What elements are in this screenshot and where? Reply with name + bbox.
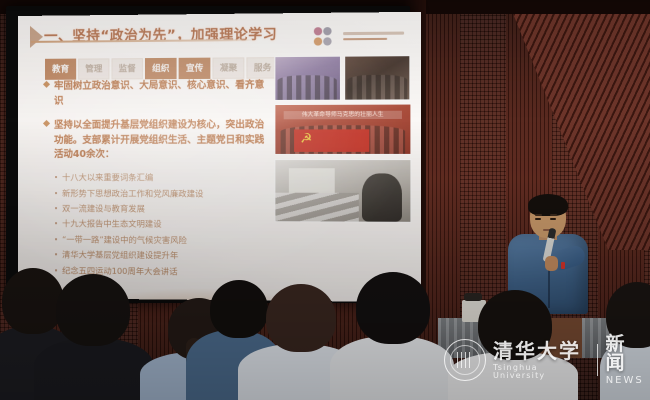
sub-bullet-text: “一带一路”建设中的气候灾害风险: [62, 234, 187, 247]
dot-bullet-icon: [55, 192, 57, 194]
watermark-university: 清华大学 Tsinghua University: [493, 341, 590, 380]
sub-bullet-item: 双一流建设与教育发展: [55, 203, 268, 216]
speaker-eyebrow-left: [535, 214, 542, 216]
photo-party-flag: 伟大革命导师马克思的壮丽人生: [274, 103, 411, 154]
sub-bullet-text: 双一流建设与教育发展: [62, 203, 145, 215]
sub-bullet-item: 十八大以来重要词条汇编: [55, 172, 268, 184]
sub-bullet-text: 十九大报告中生态文明建设: [62, 219, 161, 231]
organization-logo: [314, 22, 404, 49]
dot-bullet-icon: [55, 223, 57, 225]
sub-bullet-item: 新形势下思想政治工作和党风廉政建设: [55, 188, 268, 201]
slide-photo-grid: 伟大革命导师马克思的壮丽人生: [274, 55, 410, 223]
bullet-text: 坚持以全面提升基层党组织建设为核心，突出政治功能。支部累计开展党组织生活、主题党…: [54, 118, 268, 163]
dot-bullet-icon: [55, 176, 57, 178]
slide-tab-row: 教育 管理 监督 组织 宣传 凝聚 服务: [45, 57, 279, 80]
photo-classroom-screen: [289, 169, 335, 194]
photo-meeting-room: [344, 55, 411, 101]
audience-person: [34, 290, 154, 400]
watermark: 清华大学 Tsinghua University 新闻 NEWS: [444, 334, 644, 386]
bullet-item: 牢固树立政治意识、大局意识、核心意识、看齐意识: [44, 79, 268, 110]
projection-screen-frame: 一、坚持“政治为先”，加强理论学习: [6, 6, 410, 303]
watermark-section-en: NEWS: [606, 376, 644, 386]
audience-person: [330, 280, 454, 400]
watermark-section-cn: 新闻: [605, 335, 644, 373]
slide-tab-guanli: 管理: [78, 58, 109, 79]
photo-row: [274, 55, 410, 101]
tsinghua-seal-icon: [444, 339, 486, 381]
slide-tab-jiaoyu: 教育: [45, 59, 76, 80]
title-chevron-icon: [30, 26, 43, 48]
photo-foreground-person: [362, 174, 403, 222]
photo-banner-text: 伟大革命导师马克思的壮丽人生: [283, 111, 402, 120]
sub-bullet-item: 十九大报告中生态文明建设: [55, 219, 268, 232]
logo-wordmark: [343, 32, 404, 41]
presentation-slide: 一、坚持“政治为先”，加强理论学习: [18, 12, 421, 302]
photo-classroom-desks: [275, 193, 358, 222]
watermark-section: 新闻 NEWS: [605, 335, 644, 386]
photo-lecture-classroom: [274, 159, 411, 223]
photograph-scene: 一、坚持“政治为先”，加强理论学习: [0, 0, 650, 400]
sub-bullet-text: 清华大学基层党组织建设提升年: [62, 250, 178, 263]
diamond-bullet-icon: [43, 81, 50, 88]
slide-tab-ningju: 凝聚: [213, 57, 245, 79]
speaker-eyebrow-right: [550, 214, 557, 216]
sub-bullet-item: “一带一路”建设中的气候灾害风险: [55, 234, 268, 247]
projection-screen: 一、坚持“政治为先”，加强理论学习: [18, 12, 421, 302]
diamond-bullet-icon: [43, 120, 50, 127]
slide-bullet-list: 牢固树立政治意识、大局意识、核心意识、看齐意识 坚持以全面提升基层党组织建设为核…: [44, 79, 268, 298]
photo-group-portrait: [274, 56, 340, 101]
speaker-hair: [528, 194, 568, 216]
party-flag-icon: [294, 129, 369, 152]
dot-bullet-icon: [55, 238, 57, 240]
dot-bullet-icon: [55, 254, 57, 256]
watermark-university-cn: 清华大学: [493, 341, 590, 361]
dot-bullet-icon: [55, 207, 57, 209]
speaker-hand: [545, 256, 558, 271]
watermark-university-en: Tsinghua University: [493, 364, 590, 380]
logo-rings-icon: [314, 25, 339, 48]
slide-tab-xuanchuan: 宣传: [179, 58, 211, 79]
bullet-text: 牢固树立政治意识、大局意识、核心意识、看齐意识: [54, 79, 268, 110]
photo-people-silhouettes: [278, 75, 337, 100]
sub-bullet-text: 新形势下思想政治工作和党风廉政建设: [62, 188, 203, 200]
slide-tab-jiandu: 监督: [112, 58, 143, 79]
slide-tab-zuzhi: 组织: [145, 58, 177, 79]
sub-bullet-text: 十八大以来重要词条汇编: [62, 172, 153, 184]
speaker-badge: [561, 262, 565, 269]
watermark-divider: [597, 344, 598, 376]
photo-people-silhouettes: [347, 74, 407, 99]
bullet-item: 坚持以全面提升基层党组织建设为核心，突出政治功能。支部累计开展党组织生活、主题党…: [44, 118, 268, 163]
sub-bullet-item: 清华大学基层党组织建设提升年: [55, 250, 268, 264]
